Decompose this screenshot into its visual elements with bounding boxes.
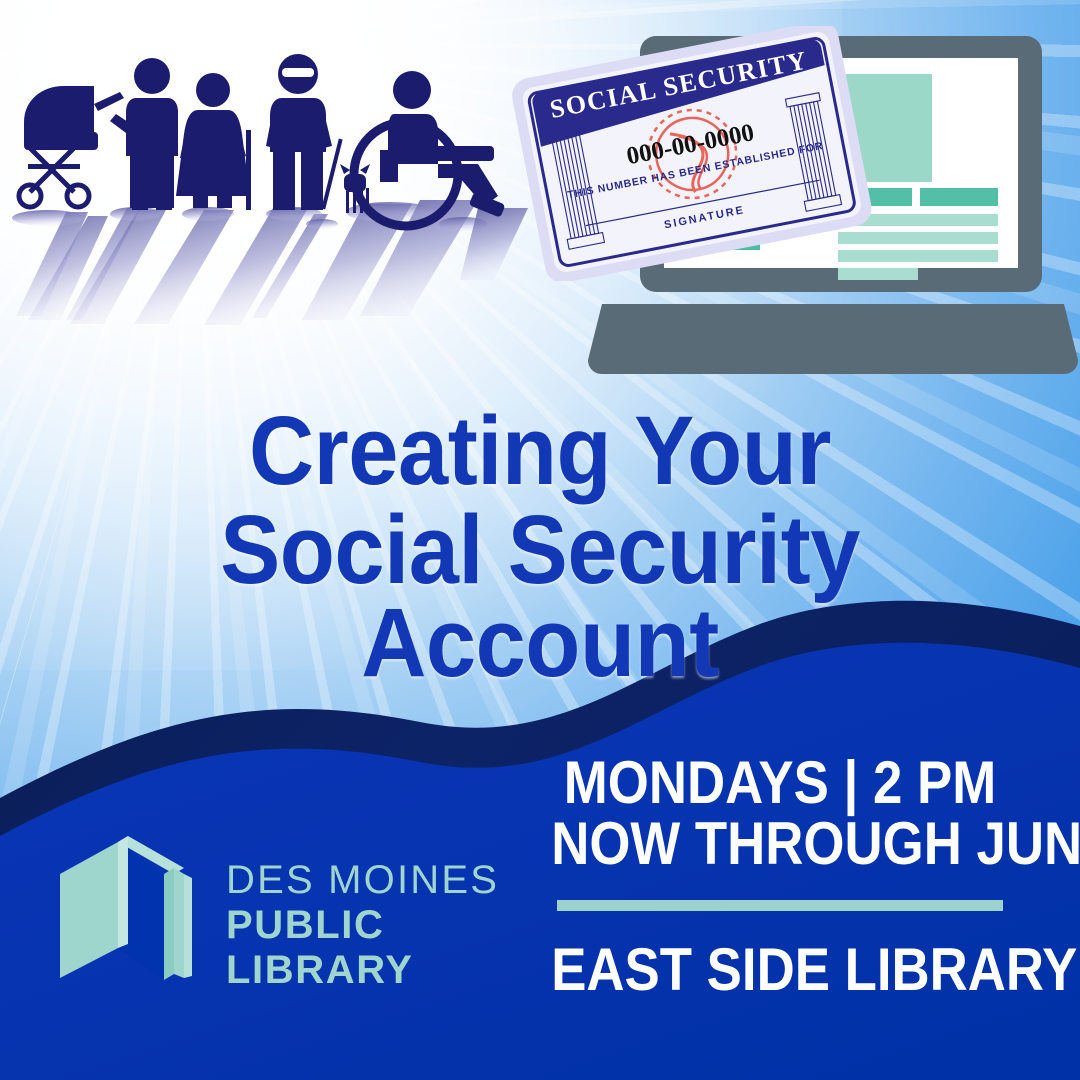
library-logo: DES MOINES PUBLIC LIBRARY bbox=[48, 826, 518, 996]
accessibility-figures-illustration bbox=[8, 28, 538, 328]
social-security-card: SOCIAL SECURITY bbox=[512, 26, 872, 281]
event-date-range: NOW THROUGH JUNE 2 bbox=[551, 813, 1009, 874]
logo-wordmark: DES MOINES PUBLIC LIBRARY bbox=[226, 858, 518, 992]
accent-rule bbox=[557, 900, 1003, 911]
blind-man-figure bbox=[266, 54, 343, 210]
logo-line-1: DES MOINES bbox=[226, 858, 518, 903]
event-schedule: MONDAYS | 2 PM bbox=[551, 752, 1009, 813]
title-line-1: Creating Your bbox=[38, 404, 1042, 497]
logo-line-2: PUBLIC LIBRARY bbox=[226, 903, 518, 993]
parent-figure bbox=[110, 58, 178, 210]
figure-shadows bbox=[12, 200, 528, 325]
woman-with-cane-figure bbox=[176, 73, 251, 210]
title-line-2: Social Security Account bbox=[38, 503, 1042, 689]
open-book-logo-icon bbox=[56, 826, 206, 991]
poster-canvas: SOCIAL SECURITY bbox=[0, 0, 1080, 1080]
poster-title: Creating Your Social Security Account bbox=[0, 404, 1080, 689]
event-details: MONDAYS | 2 PM NOW THROUGH JUNE 2 EAST S… bbox=[520, 752, 1040, 1004]
event-venue: EAST SIDE LIBRARY bbox=[551, 935, 1009, 1004]
stroller-figure bbox=[19, 86, 124, 207]
